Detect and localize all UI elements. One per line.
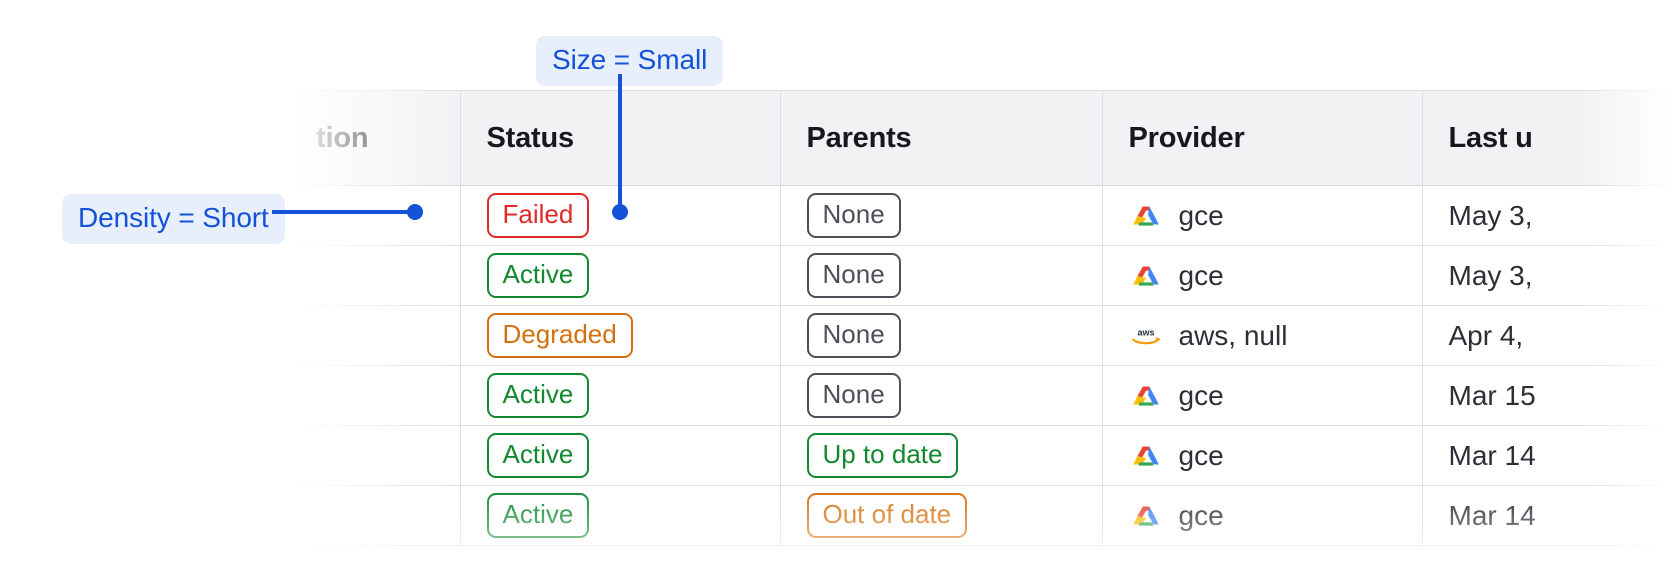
- last-updated-value: Mar 14: [1449, 500, 1536, 531]
- table-header-row: tion Status Parents Provider Last u: [290, 91, 1672, 186]
- provider-label: gce: [1179, 500, 1224, 532]
- cell-name: [290, 246, 460, 306]
- last-updated-value: Apr 4,: [1449, 320, 1524, 351]
- annotation-callout-size: Size = Small: [536, 36, 723, 86]
- cell-provider: gce: [1102, 186, 1422, 246]
- cell-last-updated: May 3,: [1422, 246, 1672, 306]
- column-header-parents[interactable]: Parents: [780, 91, 1102, 186]
- provider-label: gce: [1179, 260, 1224, 292]
- cell-provider: gce: [1102, 366, 1422, 426]
- column-header-provider[interactable]: Provider: [1102, 91, 1422, 186]
- status-badge[interactable]: Degraded: [487, 313, 633, 357]
- parents-badge[interactable]: None: [807, 193, 901, 237]
- last-updated-value: May 3,: [1449, 200, 1533, 231]
- provider-wrapper: gce: [1129, 246, 1396, 305]
- cell-status: Active: [460, 486, 780, 546]
- last-updated-value: May 3,: [1449, 260, 1533, 291]
- table-row[interactable]: ActiveNonegceMar 15: [290, 366, 1672, 426]
- provider-wrapper: gce: [1129, 186, 1396, 245]
- table-row[interactable]: FailedNonegceMay 3,: [290, 186, 1672, 246]
- cell-status: Active: [460, 246, 780, 306]
- status-badge[interactable]: Failed: [487, 193, 590, 237]
- cell-parents: None: [780, 306, 1102, 366]
- data-table: tion Status Parents Provider Last u Fail…: [290, 90, 1672, 546]
- provider-wrapper: gce: [1129, 426, 1396, 485]
- table-row[interactable]: DegradedNoneawsaws, nullApr 4,: [290, 306, 1672, 366]
- status-badge[interactable]: Active: [487, 253, 590, 297]
- cell-status: Degraded: [460, 306, 780, 366]
- last-updated-value: Mar 15: [1449, 380, 1536, 411]
- parents-badge[interactable]: Out of date: [807, 493, 968, 537]
- annotation-leader-line-density: [272, 210, 416, 214]
- data-table-fade-wrapper: tion Status Parents Provider Last u Fail…: [290, 90, 1672, 564]
- cell-name: [290, 426, 460, 486]
- cell-parents: None: [780, 366, 1102, 426]
- annotation-leader-dot-density: [407, 204, 423, 220]
- parents-badge[interactable]: Up to date: [807, 433, 959, 477]
- status-badge[interactable]: Active: [487, 493, 590, 537]
- table-header: tion Status Parents Provider Last u: [290, 91, 1672, 186]
- cell-status: Active: [460, 426, 780, 486]
- cell-provider: gce: [1102, 246, 1422, 306]
- cell-last-updated: Mar 14: [1422, 426, 1672, 486]
- cell-last-updated: Mar 14: [1422, 486, 1672, 546]
- aws-icon: aws: [1129, 319, 1163, 353]
- gcp-icon: [1129, 379, 1163, 413]
- annotation-leader-line-size: [618, 74, 622, 214]
- cell-status: Active: [460, 366, 780, 426]
- parents-badge[interactable]: None: [807, 253, 901, 297]
- provider-label: gce: [1179, 200, 1224, 232]
- parents-badge[interactable]: None: [807, 373, 901, 417]
- cell-parents: None: [780, 186, 1102, 246]
- table-row[interactable]: ActiveNonegceMay 3,: [290, 246, 1672, 306]
- table-row[interactable]: ActiveOut of dategceMar 14: [290, 486, 1672, 546]
- provider-label: aws, null: [1179, 320, 1288, 352]
- table-body: FailedNonegceMay 3,ActiveNonegceMay 3,De…: [290, 186, 1672, 546]
- cell-name: [290, 366, 460, 426]
- cell-last-updated: Apr 4,: [1422, 306, 1672, 366]
- cell-provider: gce: [1102, 426, 1422, 486]
- parents-badge[interactable]: None: [807, 313, 901, 357]
- cell-provider: awsaws, null: [1102, 306, 1422, 366]
- cell-parents: None: [780, 246, 1102, 306]
- provider-wrapper: gce: [1129, 486, 1396, 545]
- cell-parents: Up to date: [780, 426, 1102, 486]
- data-table-viewport[interactable]: tion Status Parents Provider Last u Fail…: [290, 90, 1672, 564]
- status-badge[interactable]: Active: [487, 373, 590, 417]
- gcp-icon: [1129, 259, 1163, 293]
- column-header-last-updated[interactable]: Last u: [1422, 91, 1672, 186]
- annotation-leader-dot-size: [612, 204, 628, 220]
- cell-last-updated: Mar 15: [1422, 366, 1672, 426]
- gcp-icon: [1129, 199, 1163, 233]
- provider-label: gce: [1179, 380, 1224, 412]
- status-badge[interactable]: Active: [487, 433, 590, 477]
- column-header-name[interactable]: tion: [290, 91, 460, 186]
- cell-last-updated: May 3,: [1422, 186, 1672, 246]
- cell-name: [290, 306, 460, 366]
- provider-wrapper: awsaws, null: [1129, 306, 1396, 365]
- table-row[interactable]: ActiveUp to dategceMar 14: [290, 426, 1672, 486]
- cell-parents: Out of date: [780, 486, 1102, 546]
- svg-text:aws: aws: [1137, 327, 1154, 337]
- cell-name: [290, 186, 460, 246]
- gcp-icon: [1129, 499, 1163, 533]
- gcp-icon: [1129, 439, 1163, 473]
- last-updated-value: Mar 14: [1449, 440, 1536, 471]
- cell-provider: gce: [1102, 486, 1422, 546]
- provider-label: gce: [1179, 440, 1224, 472]
- cell-name: [290, 486, 460, 546]
- provider-wrapper: gce: [1129, 366, 1396, 425]
- annotation-callout-density: Density = Short: [62, 194, 285, 244]
